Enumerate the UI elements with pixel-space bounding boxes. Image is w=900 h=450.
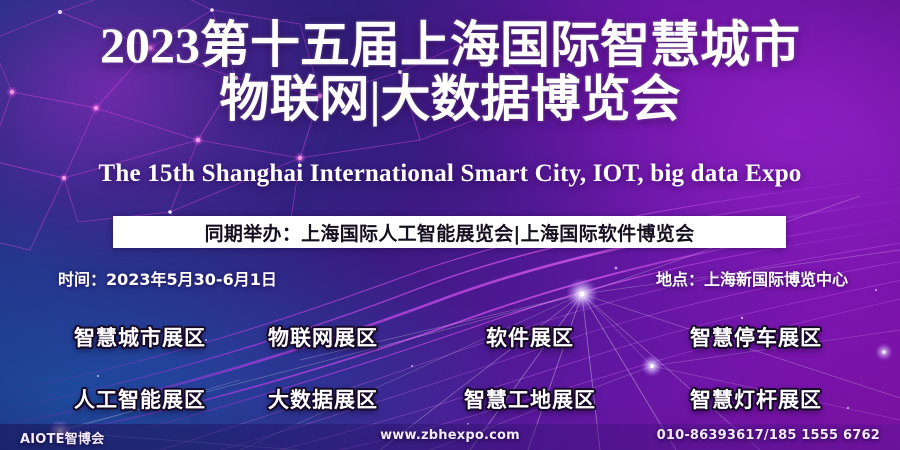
page-title-line-1: 2023第十五届上海国际智慧城市 [0, 20, 900, 70]
expo-banner: 2023第十五届上海国际智慧城市 物联网|大数据博览会 The 15th Sha… [0, 0, 900, 450]
zone-software[interactable]: 软件展区 [486, 322, 574, 352]
exhibition-zones: 智慧城市展区 物联网展区 软件展区 智慧停车展区 人工智能展区 大数据展区 智慧… [0, 322, 900, 432]
event-time: 时间：2023年5月30-6月1日 [58, 266, 277, 290]
exhibition-zone-row-1: 智慧城市展区 物联网展区 软件展区 智慧停车展区 [0, 322, 900, 370]
zone-big-data[interactable]: 大数据展区 [268, 384, 378, 414]
page-title-line-2: 物联网|大数据博览会 [0, 74, 900, 124]
zone-smart-construction-site[interactable]: 智慧工地展区 [464, 384, 596, 414]
footer-bar: AIOTE智博会 www.zbhexpo.com 010-86393617/18… [0, 424, 900, 450]
zone-smart-city[interactable]: 智慧城市展区 [74, 322, 206, 352]
zone-artificial-intelligence[interactable]: 人工智能展区 [74, 384, 206, 414]
footer-phone-number[interactable]: 010-86393617/185 1555 6762 [657, 428, 880, 443]
subtitle-english: The 15th Shanghai International Smart Ci… [0, 160, 900, 188]
co-host-banner: 同期举办：上海国际人工智能展览会|上海国际软件博览会 [113, 216, 786, 248]
zone-iot[interactable]: 物联网展区 [268, 322, 378, 352]
title-block: 2023第十五届上海国际智慧城市 物联网|大数据博览会 [0, 20, 900, 124]
zone-smart-lamp-pole[interactable]: 智慧灯杆展区 [690, 384, 822, 414]
co-host-label: 同期举办：上海国际人工智能展览会|上海国际软件博览会 [205, 219, 695, 246]
event-place: 地点：上海新国际博览中心 [656, 266, 848, 290]
zone-smart-parking[interactable]: 智慧停车展区 [690, 322, 822, 352]
event-meta-row: 时间：2023年5月30-6月1日 地点：上海新国际博览中心 [0, 266, 900, 292]
